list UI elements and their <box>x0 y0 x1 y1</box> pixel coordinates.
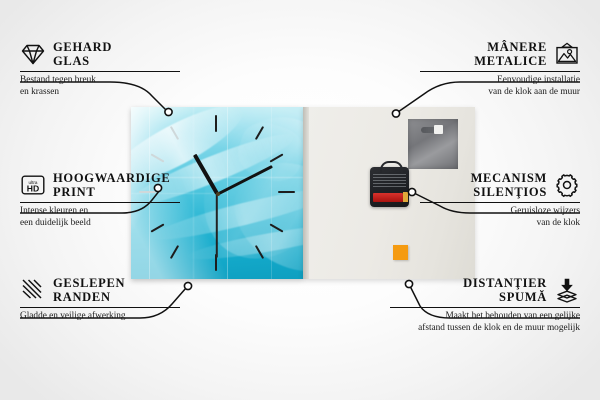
clock-mechanism-part <box>370 167 409 207</box>
callout-subtitle-gehard-glas: Bestand tegen breuk en krassen <box>20 75 180 98</box>
clock-glass-edge <box>303 107 309 279</box>
callout-title-mecanism-silentios: MECANISM SILENŢIOS <box>471 171 547 199</box>
leader-dot-randen <box>184 282 191 289</box>
spacer-arrow-icon <box>554 277 580 303</box>
callout-rule <box>20 71 180 72</box>
callout-distantier-spuma: DISTANŢIER SPUMĂ Maakt het behouden van … <box>390 276 580 335</box>
mechanism-hook <box>380 161 403 173</box>
callout-rule <box>390 307 580 308</box>
callout-geslepen-randen: GESLEPEN RANDEN Gladde en veilige afwerk… <box>20 276 180 323</box>
svg-text:HD: HD <box>27 183 39 193</box>
foam-spacer-part <box>393 245 408 260</box>
hanging-frame-icon <box>554 41 580 67</box>
callout-rule <box>20 307 180 308</box>
callout-subtitle-mecanism-silentios: Geruisloze wijzers van de klok <box>420 206 580 229</box>
callout-subtitle-hoogwaardige-print: Intense kleuren en een duidelijk beeld <box>20 206 180 229</box>
callout-title-manere-metalice: MÂNERE METALICE <box>474 40 547 68</box>
callout-subtitle-distantier-spuma: Maakt het behouden van een gelijke afsta… <box>390 311 580 334</box>
callout-rule <box>20 202 180 203</box>
clock-hands-hub <box>216 192 220 196</box>
callout-title-hoogwaardige-print: HOOGWAARDIGE PRINT <box>53 171 170 199</box>
callout-rule <box>420 202 580 203</box>
infographic-canvas: GEHARD GLAS Bestand tegen breuk en krass… <box>0 0 600 400</box>
callout-gehard-glas: GEHARD GLAS Bestand tegen breuk en krass… <box>20 40 180 99</box>
callout-mecanism-silentios: MECANISM SILENŢIOS Geruisloze wijzers va… <box>420 171 580 230</box>
callout-subtitle-geslepen-randen: Gladde en veilige afwerking <box>20 311 180 323</box>
callout-title-distantier-spuma: DISTANŢIER SPUMĂ <box>463 276 547 304</box>
callout-title-geslepen-randen: GESLEPEN RANDEN <box>53 276 125 304</box>
callout-hoogwaardige-print: ultra HD HOOGWAARDIGE PRINT Intense kleu… <box>20 171 180 230</box>
metal-hanger-part <box>408 119 458 169</box>
battery-terminal <box>403 192 408 202</box>
callout-title-gehard-glas: GEHARD GLAS <box>53 40 112 68</box>
gear-icon <box>554 172 580 198</box>
ultra-hd-icon: ultra HD <box>20 172 46 198</box>
beveled-edge-icon <box>20 277 46 303</box>
callout-subtitle-manere-metalice: Eenvoudige installatie van de klok aan d… <box>420 75 580 98</box>
callout-manere-metalice: MÂNERE METALICE Eenvoudige installatie v… <box>420 40 580 99</box>
callout-rule <box>420 71 580 72</box>
battery-part <box>373 193 403 202</box>
hanger-hole <box>434 125 443 134</box>
diamond-icon <box>20 41 46 67</box>
mechanism-label-texture <box>373 174 406 188</box>
